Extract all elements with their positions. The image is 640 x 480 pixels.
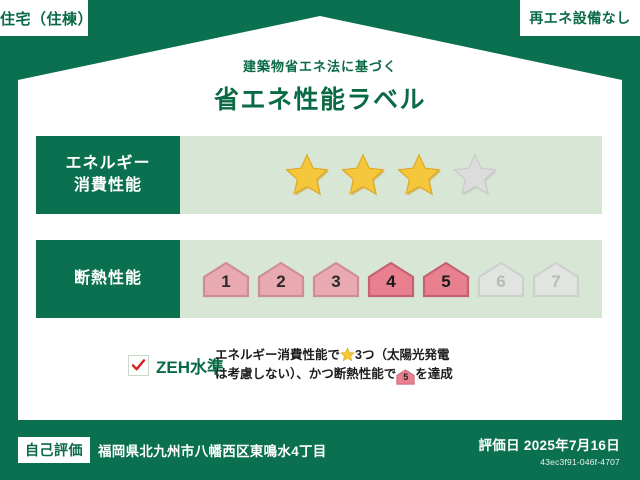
zeh-desc-2a: は考慮しない）、かつ断熱性能で xyxy=(215,367,396,381)
zeh-description: エネルギー消費性能で3つ（太陽光発電 は考慮しない）、かつ断熱性能で5を達成 xyxy=(215,346,453,385)
title-subtitle: 建築物省エネ法に基づく xyxy=(0,56,640,75)
self-evaluation-badge: 自己評価 xyxy=(18,437,90,463)
check-icon xyxy=(131,358,146,373)
inline-badge-number: 5 xyxy=(396,369,415,385)
insulation-level-number: 2 xyxy=(276,272,285,298)
insulation-level-body: 1234567 xyxy=(180,240,602,318)
star-empty-icon xyxy=(452,152,498,198)
label-footer: 自己評価 福岡県北九州市八幡西区東鳴水4丁目 評価日 2025年7月16日 43… xyxy=(0,420,640,480)
building-type-tag: 住宅（住棟） xyxy=(0,0,88,36)
label-title-block: 建築物省エネ法に基づく 省エネ性能ラベル xyxy=(0,56,640,116)
star-icon xyxy=(340,347,355,362)
renewable-equipment-tag: 再エネ設備なし xyxy=(520,0,640,36)
zeh-description-line2: は考慮しない）、かつ断熱性能で5を達成 xyxy=(215,365,453,384)
insulation-level-badge: 4 xyxy=(366,260,416,298)
energy-label-line2: 消費性能 xyxy=(74,175,142,197)
zeh-check-group: ZEH水準 xyxy=(36,353,201,378)
insulation-level-number: 7 xyxy=(551,272,560,298)
insulation-level-badge: 5 xyxy=(421,260,471,298)
insulation-level-badge: 2 xyxy=(256,260,306,298)
footer-left-group: 自己評価 福岡県北九州市八幡西区東鳴水4丁目 xyxy=(0,437,327,463)
insulation-level-group: 1234567 xyxy=(201,260,581,298)
star-rating-group xyxy=(180,136,602,214)
insulation-level-badge: 3 xyxy=(311,260,361,298)
zeh-desc-2b: を達成 xyxy=(415,367,453,381)
zeh-standard-label: ZEH水準 xyxy=(156,353,224,378)
zeh-section: ZEH水準 エネルギー消費性能で3つ（太陽光発電 は考慮しない）、かつ断熱性能で… xyxy=(36,336,602,394)
footer-right-group: 評価日 2025年7月16日 43ec3f91-046f-4707 xyxy=(478,434,640,467)
property-address: 福岡県北九州市八幡西区東鳴水4丁目 xyxy=(98,440,327,460)
energy-performance-label: 住宅（住棟） 再エネ設備なし 建築物省エネ法に基づく 省エネ性能ラベル エネルギ… xyxy=(0,0,640,480)
energy-label-line1: エネルギー xyxy=(65,153,150,175)
insulation-level-number: 6 xyxy=(496,272,505,298)
insulation-performance-label-cell: 断熱性能 xyxy=(36,240,180,318)
insulation-level-badge: 1 xyxy=(201,260,251,298)
star-filled-icon xyxy=(284,152,330,198)
insulation-level-badge: 7 xyxy=(531,260,581,298)
zeh-description-line1: エネルギー消費性能で3つ（太陽光発電 xyxy=(215,346,453,365)
insulation-level-number: 1 xyxy=(221,272,230,298)
energy-performance-row: エネルギー 消費性能 xyxy=(36,136,602,214)
title-main: 省エネ性能ラベル xyxy=(0,80,640,116)
insulation-level-number: 5 xyxy=(441,272,450,298)
zeh-checkbox[interactable] xyxy=(128,355,149,376)
insulation-label-line1: 断熱性能 xyxy=(74,268,142,290)
insulation-level-number: 3 xyxy=(331,272,340,298)
document-id: 43ec3f91-046f-4707 xyxy=(478,457,620,467)
energy-performance-label-cell: エネルギー 消費性能 xyxy=(36,136,180,214)
inline-insulation-badge: 5 xyxy=(396,369,415,383)
insulation-level-number: 4 xyxy=(386,272,395,298)
zeh-desc-1b: 3つ（太陽光発電 xyxy=(355,348,449,362)
evaluation-date: 評価日 2025年7月16日 xyxy=(478,434,620,454)
star-filled-icon xyxy=(340,152,386,198)
zeh-desc-1a: エネルギー消費性能で xyxy=(215,348,340,362)
insulation-level-badge: 6 xyxy=(476,260,526,298)
insulation-performance-row: 断熱性能 1234567 xyxy=(36,240,602,318)
star-filled-icon xyxy=(396,152,442,198)
